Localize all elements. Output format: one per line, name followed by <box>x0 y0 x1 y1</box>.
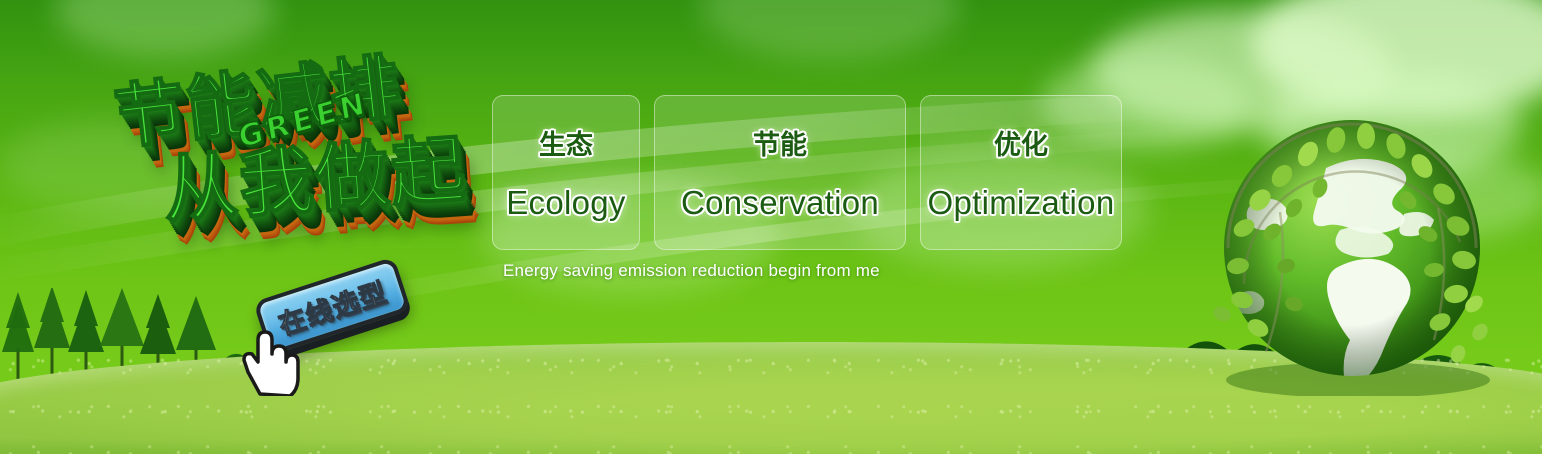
feature-card-list: 生态 Ecology 节能 Conservation 优化 Optimizati… <box>492 95 1122 250</box>
feature-card-en: Optimization <box>927 184 1114 222</box>
feature-card-en: Conservation <box>681 184 879 222</box>
feature-card-en: Ecology <box>506 184 626 222</box>
hand-pointer-icon <box>238 322 304 396</box>
banner-tagline: Energy saving emission reduction begin f… <box>503 261 880 281</box>
feature-card-ecology[interactable]: 生态 Ecology <box>492 95 640 250</box>
hero-logo: 节能减排 从我做起 GREEN <box>86 14 509 288</box>
feature-card-zh: 节能 <box>753 123 807 162</box>
feature-card-optimization[interactable]: 优化 Optimization <box>920 95 1122 250</box>
eco-banner: 节能减排 从我做起 GREEN 在线选型 生态 Ecology 节能 Conse… <box>0 0 1542 454</box>
leafy-globe-icon <box>1208 108 1496 396</box>
feature-card-zh: 优化 <box>994 123 1048 162</box>
logo-bottom-text: 从我做起 <box>161 127 470 234</box>
feature-card-conservation[interactable]: 节能 Conservation <box>654 95 906 250</box>
feature-card-zh: 生态 <box>539 123 593 162</box>
